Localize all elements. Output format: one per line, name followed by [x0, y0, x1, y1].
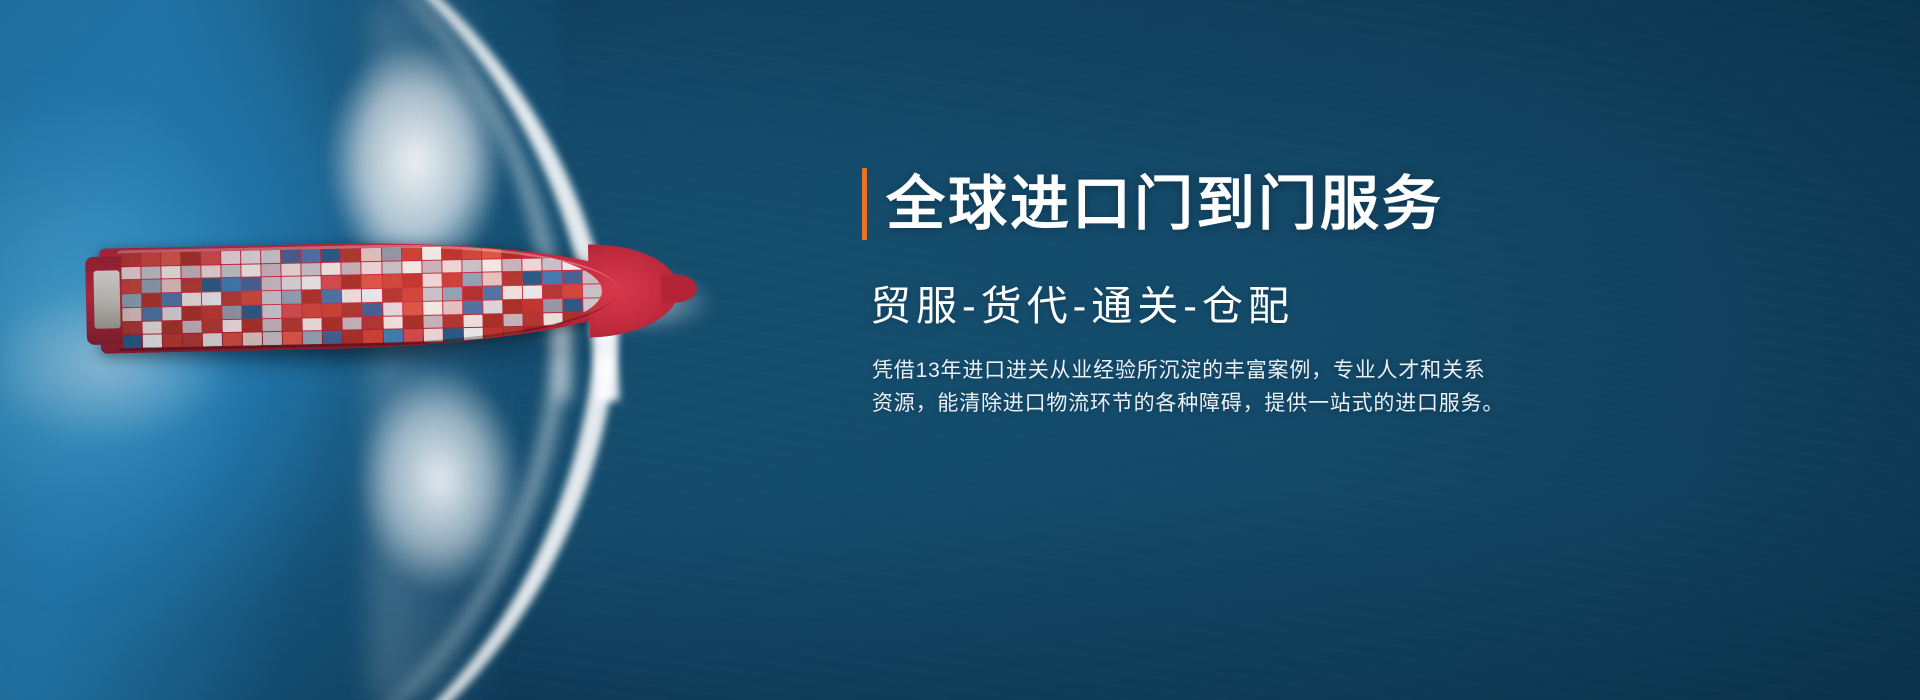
ship-superstructure: [93, 270, 120, 329]
headline-row: 全球进口门到门服务: [862, 168, 1782, 240]
banner-description: 凭借13年进口进关从业经验所沉淀的丰富案例，专业人才和关系 资源，能清除进口物流…: [872, 354, 1592, 420]
ship-deck-edge: [117, 240, 619, 351]
banner-headline: 全球进口门到门服务: [886, 168, 1444, 240]
hero-banner: 全球进口门到门服务 贸服-货代-通关-仓配 凭借13年进口进关从业经验所沉淀的丰…: [0, 0, 1920, 700]
accent-bar: [862, 168, 867, 240]
banner-content: 全球进口门到门服务 贸服-货代-通关-仓配 凭借13年进口进关从业经验所沉淀的丰…: [862, 168, 1782, 420]
banner-subheadline: 贸服-货代-通关-仓配: [870, 280, 1782, 332]
description-line-1: 凭借13年进口进关从业经验所沉淀的丰富案例，专业人才和关系: [872, 354, 1592, 387]
description-line-2: 资源，能清除进口物流环节的各种障碍，提供一站式的进口服务。: [872, 387, 1592, 420]
container-ship: [99, 237, 646, 353]
